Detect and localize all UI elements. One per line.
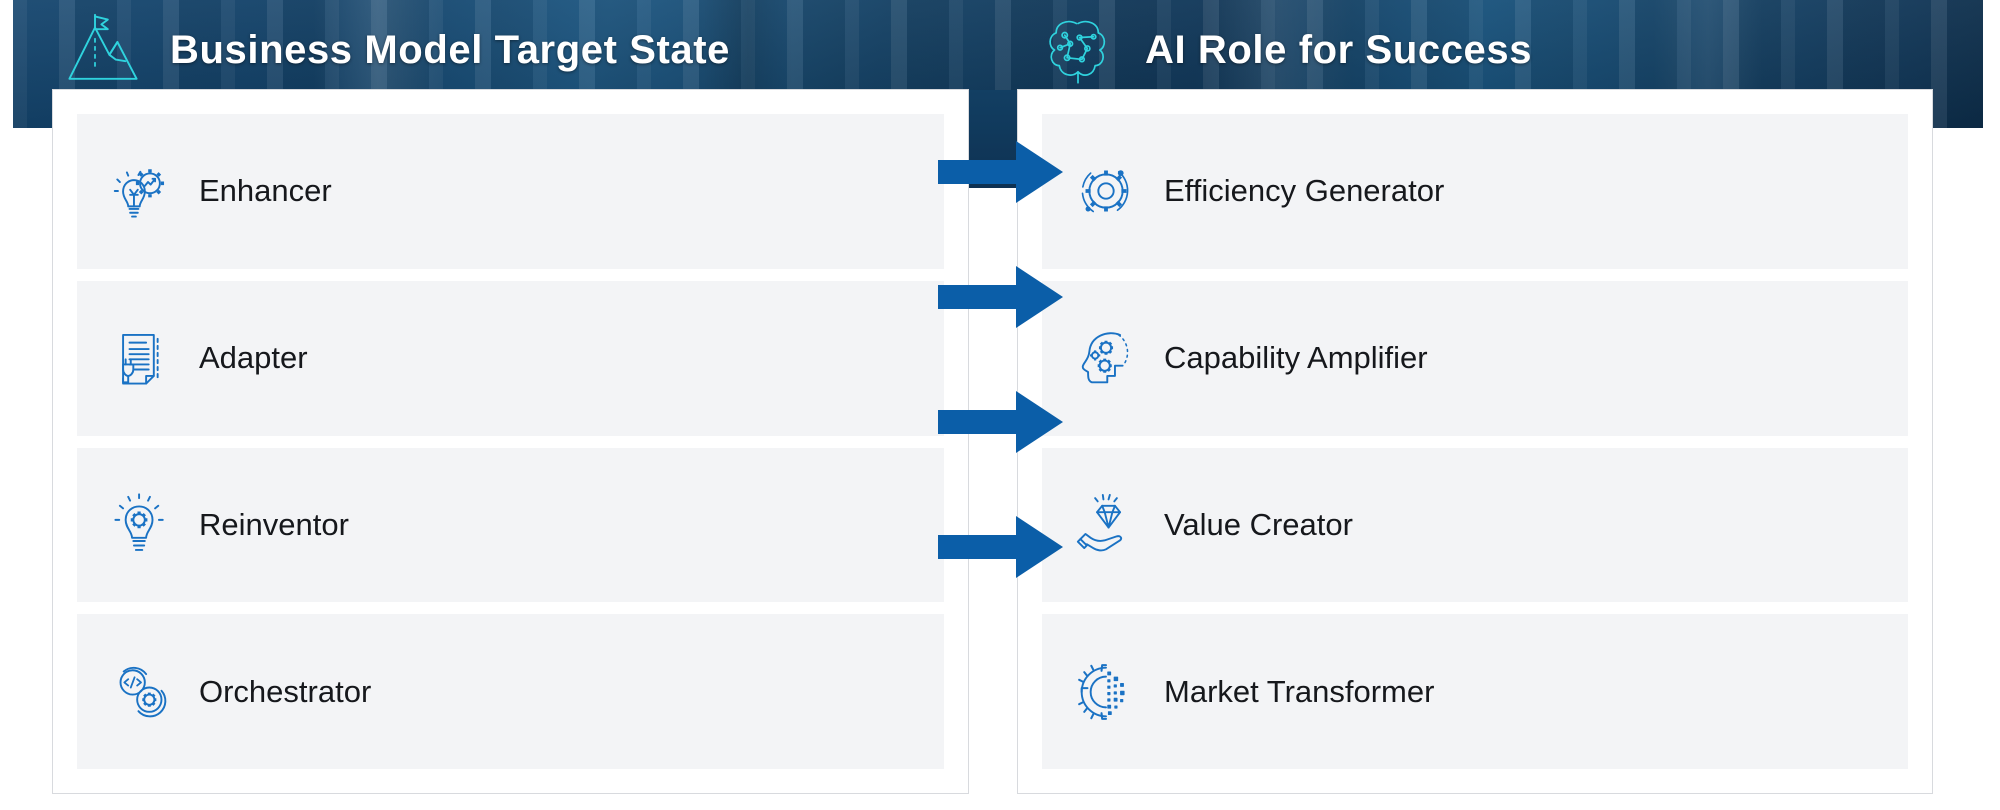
list-item-label: Market Transformer — [1164, 674, 1434, 710]
list-item-label: Orchestrator — [199, 674, 371, 710]
list-item[interactable]: Value Creator — [1042, 448, 1908, 603]
header-right-title: AI Role for Success — [1145, 28, 1532, 73]
list-item[interactable]: Enhancer — [77, 114, 944, 269]
gear-pixel-icon — [1070, 656, 1142, 728]
list-item[interactable]: Capability Amplifier — [1042, 281, 1908, 436]
head-gears-icon — [1070, 322, 1142, 394]
gear-orbit-icon — [1070, 155, 1142, 227]
list-item-label: Efficiency Generator — [1164, 173, 1444, 209]
document-plug-icon — [105, 322, 177, 394]
list-item[interactable]: Orchestrator — [77, 614, 944, 769]
lightbulb-gear-chart-icon — [105, 155, 177, 227]
list-item[interactable]: Adapter — [77, 281, 944, 436]
left-row-list: Enhancer Adapter — [77, 114, 944, 769]
right-row-list: Efficiency Generator Capability Amplifie… — [1042, 114, 1908, 769]
list-item-label: Reinventor — [199, 507, 349, 543]
list-item-label: Adapter — [199, 340, 308, 376]
list-item[interactable]: Reinventor — [77, 448, 944, 603]
list-item-label: Value Creator — [1164, 507, 1353, 543]
header-left-group: Business Model Target State — [60, 0, 730, 100]
list-item[interactable]: Efficiency Generator — [1042, 114, 1908, 269]
header-right-group: AI Role for Success — [1035, 0, 1532, 100]
list-item[interactable]: Market Transformer — [1042, 614, 1908, 769]
code-gear-circles-icon — [105, 656, 177, 728]
panel-divider-strip — [968, 90, 1018, 188]
hand-diamond-icon — [1070, 489, 1142, 561]
lightbulb-gear-icon — [105, 489, 177, 561]
business-model-target-state-panel: Enhancer Adapter — [53, 90, 968, 793]
brain-network-icon — [1035, 7, 1121, 93]
header-left-title: Business Model Target State — [170, 28, 730, 73]
mountain-flag-icon — [60, 7, 146, 93]
list-item-label: Capability Amplifier — [1164, 340, 1428, 376]
list-item-label: Enhancer — [199, 173, 332, 209]
ai-role-for-success-panel: Efficiency Generator Capability Amplifie… — [1018, 90, 1932, 793]
